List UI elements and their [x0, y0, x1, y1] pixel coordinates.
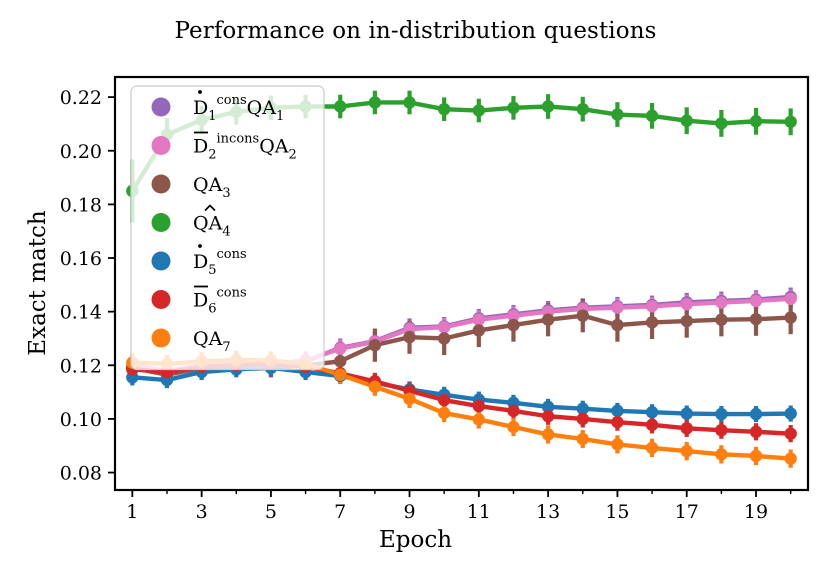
data-point: [542, 410, 554, 422]
data-point: [750, 295, 762, 307]
x-tick-label: 9: [403, 501, 415, 523]
series-line: [132, 360, 790, 459]
data-point: [715, 448, 727, 460]
data-point: [646, 110, 658, 122]
data-point: [715, 296, 727, 308]
data-point: [611, 405, 623, 417]
data-point: [646, 316, 658, 328]
data-point: [577, 309, 589, 321]
data-point: [611, 108, 623, 120]
data-point: [403, 331, 415, 343]
data-point: [334, 100, 346, 112]
data-point: [577, 103, 589, 115]
data-point: [784, 293, 796, 305]
data-point: [646, 300, 658, 312]
data-point: [334, 355, 346, 367]
data-point: [715, 314, 727, 326]
y-tick-label: 0.10: [60, 409, 102, 431]
legend-marker[interactable]: [152, 290, 171, 309]
data-point: [611, 438, 623, 450]
data-point: [750, 313, 762, 325]
data-point: [438, 407, 450, 419]
x-tick-label: 19: [744, 501, 768, 523]
data-point: [473, 314, 485, 326]
data-point: [784, 407, 796, 419]
data-point: [681, 298, 693, 310]
data-point: [611, 416, 623, 428]
y-tick-label: 0.20: [60, 141, 102, 163]
chart-legend[interactable]: D1consQA1D2inconsQA2QA3QA4D5consD6consQA…: [131, 86, 324, 370]
data-point: [438, 103, 450, 115]
data-point: [750, 408, 762, 420]
accent-dot-icon: [198, 90, 202, 94]
data-point: [507, 102, 519, 114]
data-point: [577, 433, 589, 445]
data-point: [681, 315, 693, 327]
y-tick-label: 0.22: [60, 87, 102, 109]
data-point: [646, 406, 658, 418]
data-point: [646, 442, 658, 454]
data-point: [334, 368, 346, 380]
x-tick-label: 13: [536, 501, 560, 523]
accent-dot-icon: [198, 244, 202, 248]
data-point: [473, 324, 485, 336]
data-point: [507, 421, 519, 433]
data-point: [369, 339, 381, 351]
y-tick-label: 0.18: [60, 194, 102, 216]
series-line: [132, 368, 790, 414]
legend-marker[interactable]: [152, 213, 171, 232]
data-point: [784, 427, 796, 439]
data-point: [542, 428, 554, 440]
data-point: [715, 408, 727, 420]
y-tick-label: 0.14: [60, 302, 102, 324]
data-point: [403, 393, 415, 405]
data-point: [750, 450, 762, 462]
legend-marker[interactable]: [152, 98, 171, 117]
data-point: [507, 319, 519, 331]
data-point: [646, 419, 658, 431]
data-point: [577, 413, 589, 425]
legend-marker[interactable]: [152, 329, 171, 348]
x-tick-label: 5: [265, 501, 277, 523]
data-point: [473, 104, 485, 116]
data-point: [611, 301, 623, 313]
x-tick-label: 17: [675, 501, 699, 523]
x-tick-label: 3: [196, 501, 208, 523]
y-tick-label: 0.12: [60, 355, 102, 377]
data-point: [473, 400, 485, 412]
data-point: [784, 116, 796, 128]
data-point: [715, 424, 727, 436]
data-point: [681, 115, 693, 127]
data-point: [438, 394, 450, 406]
legend-marker[interactable]: [152, 175, 171, 194]
x-tick-label: 7: [334, 501, 346, 523]
data-point: [611, 319, 623, 331]
data-point: [750, 115, 762, 127]
data-point: [334, 342, 346, 354]
legend-marker[interactable]: [152, 136, 171, 155]
y-tick-label: 0.08: [60, 463, 102, 485]
data-point: [784, 311, 796, 323]
figure-canvas: Performance on in-distribution questions…: [0, 0, 831, 583]
data-point: [403, 96, 415, 108]
x-tick-label: 11: [467, 501, 491, 523]
data-point: [681, 422, 693, 434]
chart-plot-area: 0.080.100.120.140.160.180.200.2213579111…: [0, 0, 831, 583]
data-point: [507, 405, 519, 417]
x-tick-label: 1: [126, 501, 138, 523]
data-point: [681, 445, 693, 457]
x-tick-label: 15: [605, 501, 629, 523]
data-point: [681, 407, 693, 419]
data-point: [438, 321, 450, 333]
data-point: [542, 314, 554, 326]
data-point: [473, 413, 485, 425]
data-point: [784, 452, 796, 464]
data-point: [369, 96, 381, 108]
data-point: [369, 381, 381, 393]
data-point: [542, 100, 554, 112]
data-point: [715, 117, 727, 129]
data-point: [438, 332, 450, 344]
legend-marker[interactable]: [152, 252, 171, 271]
y-tick-label: 0.16: [60, 248, 102, 270]
data-point: [750, 426, 762, 438]
